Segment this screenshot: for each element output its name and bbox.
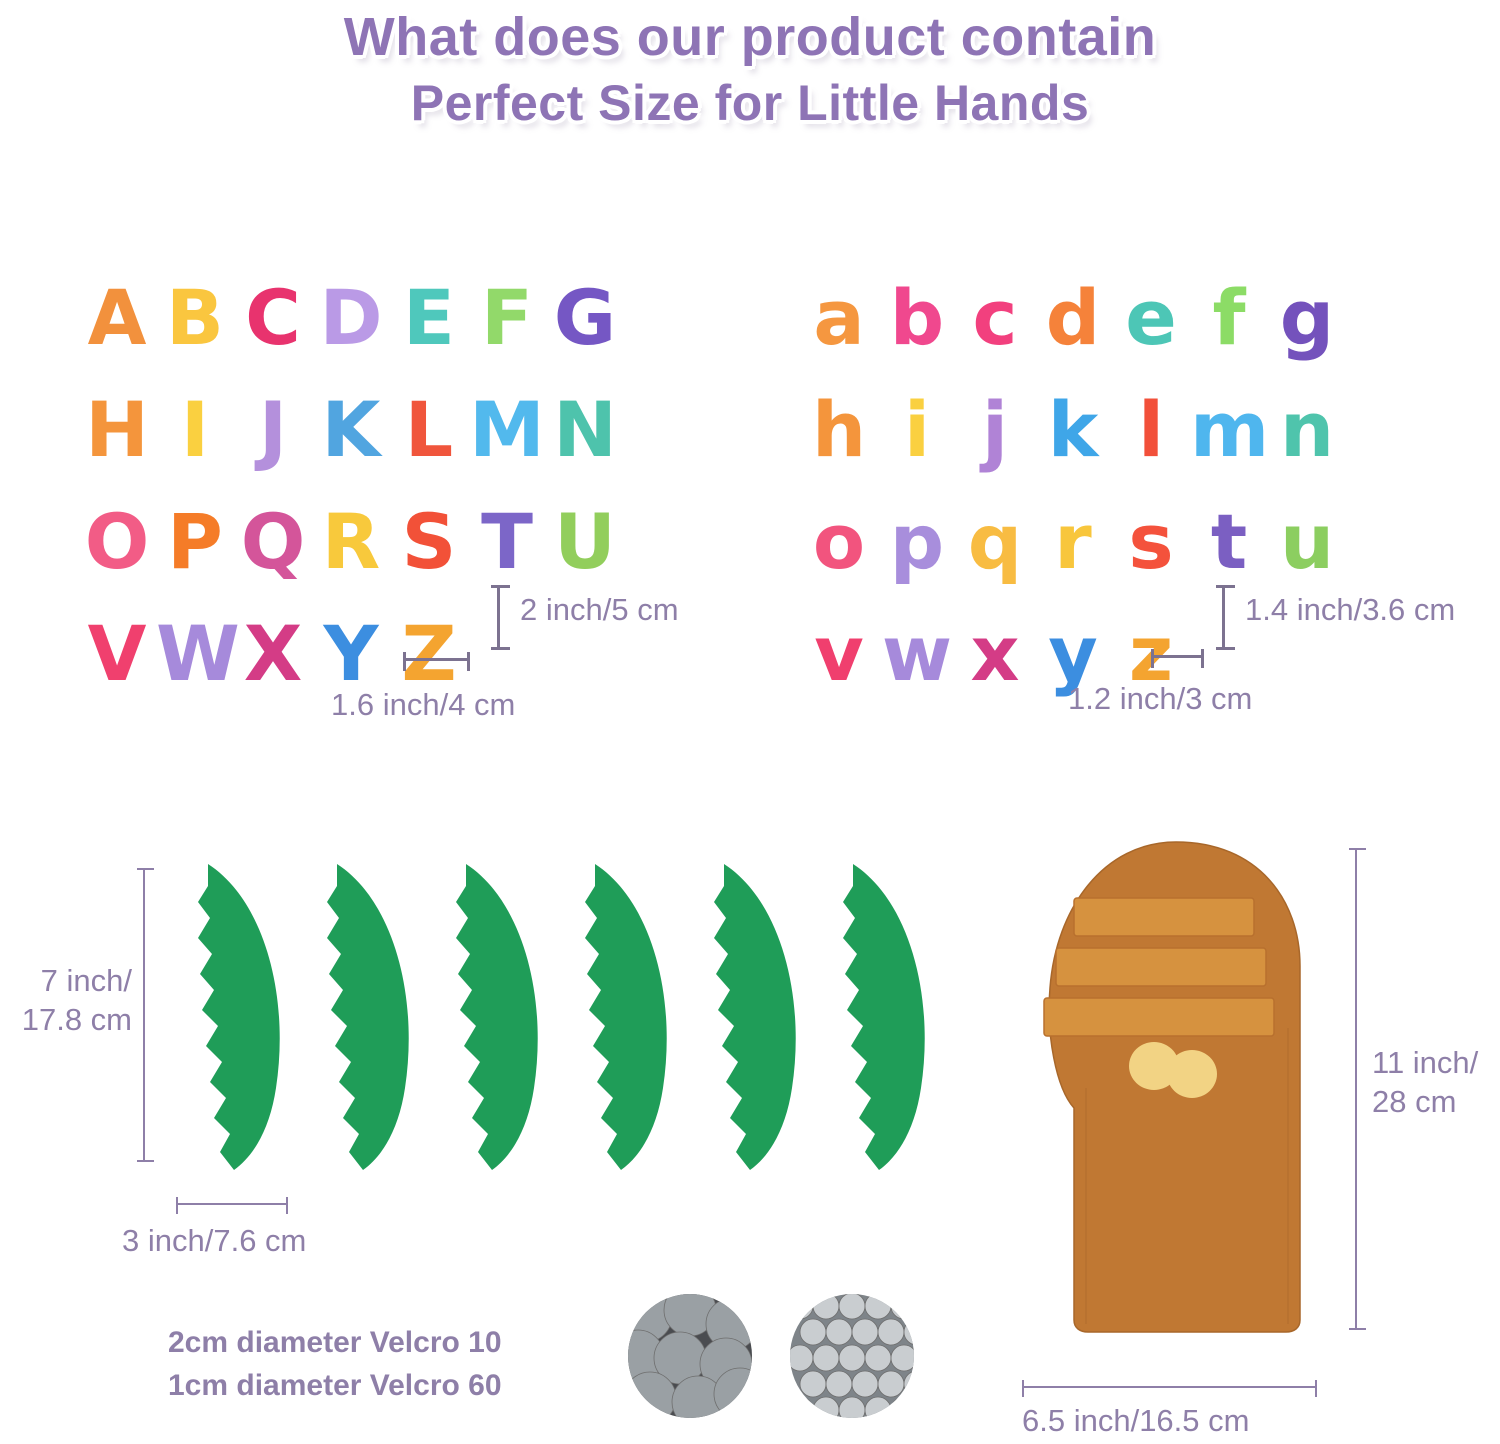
uppercase-width-marker <box>404 658 468 661</box>
velcro-note-line-1: 2cm diameter Velcro 10 <box>168 1322 502 1365</box>
leaf-width-marker <box>176 1203 288 1205</box>
letter-tile-G: G <box>546 280 624 356</box>
letter-tile-k: k <box>1034 392 1112 468</box>
trunk-height-marker <box>1355 848 1357 1330</box>
letter-tile-A: A <box>78 280 156 356</box>
letter-tile-i: i <box>878 392 956 468</box>
letter-tile-L: L <box>390 392 468 468</box>
letter-tile-e: e <box>1112 280 1190 356</box>
letter-tile-l: l <box>1112 392 1190 468</box>
letter-tile-E: E <box>390 280 468 356</box>
letter-tile-V: V <box>78 616 156 692</box>
lowercase-height-label: 1.4 inch/3.6 cm <box>1245 591 1455 630</box>
velcro-loop-side-photo <box>790 1294 914 1418</box>
letter-tile-r: r <box>1034 504 1112 580</box>
letter-tile-R: R <box>312 504 390 580</box>
page-title: What does our product contain Perfect Si… <box>0 6 1500 133</box>
uppercase-height-label: 2 inch/5 cm <box>520 591 679 630</box>
leaf-height-marker <box>143 868 145 1162</box>
letter-tile-C: C <box>234 280 312 356</box>
letter-tile-p: p <box>878 504 956 580</box>
letter-tile-d: d <box>1034 280 1112 356</box>
lowercase-width-label: 1.2 inch/3 cm <box>1068 680 1252 719</box>
letter-tile-B: B <box>156 280 234 356</box>
letter-tile-a: a <box>800 280 878 356</box>
letter-tile-H: H <box>78 392 156 468</box>
letter-tile-F: F <box>468 280 546 356</box>
letter-tile-N: N <box>546 392 624 468</box>
letter-row: OPQRSTU <box>78 468 624 580</box>
letter-tile-J: J <box>234 392 312 468</box>
leaf-shape <box>813 856 941 1176</box>
letter-row: HIJKLMN <box>78 356 624 468</box>
letter-row: hijklmn <box>800 356 1346 468</box>
letter-tile-s: s <box>1112 504 1190 580</box>
trunk-width-marker <box>1022 1386 1317 1388</box>
letter-tile-x: x <box>956 616 1034 692</box>
letter-tile-P: P <box>156 504 234 580</box>
uppercase-height-marker <box>497 586 500 648</box>
lowercase-width-marker <box>1152 655 1202 658</box>
letter-tile-I: I <box>156 392 234 468</box>
trunk-height-label: 11 inch/ 28 cm <box>1372 1044 1478 1122</box>
letter-tile-M: M <box>468 392 546 468</box>
leaf-width-label: 3 inch/7.6 cm <box>122 1222 306 1261</box>
letter-tile-c: c <box>956 280 1034 356</box>
letter-tile-j: j <box>956 392 1034 468</box>
letter-tile-o: o <box>800 504 878 580</box>
leaf-shape <box>555 856 683 1176</box>
letter-tile-K: K <box>312 392 390 468</box>
leaf-shape <box>168 856 296 1176</box>
letter-tile-v: v <box>800 616 878 692</box>
letter-tile-g: g <box>1268 280 1346 356</box>
letter-row: ABCDEFG <box>78 244 624 356</box>
letter-tile-n: n <box>1268 392 1346 468</box>
letter-tile-T: T <box>468 504 546 580</box>
uppercase-width-label: 1.6 inch/4 cm <box>331 686 515 725</box>
leaf-shape <box>684 856 812 1176</box>
letter-tile-u: u <box>1268 504 1346 580</box>
velcro-hook-side-photo <box>628 1294 752 1418</box>
letter-tile-w: w <box>878 616 956 692</box>
velcro-quantity-note: 2cm diameter Velcro 10 1cm diameter Velc… <box>168 1322 502 1407</box>
letter-tile-b: b <box>878 280 956 356</box>
letter-row: opqrstu <box>800 468 1346 580</box>
letter-tile-O: O <box>78 504 156 580</box>
trunk-width-label: 6.5 inch/16.5 cm <box>1022 1402 1249 1441</box>
letter-tile-q: q <box>956 504 1034 580</box>
leaf-shape <box>297 856 425 1176</box>
letter-tile-t: t <box>1190 504 1268 580</box>
letter-tile-h: h <box>800 392 878 468</box>
letter-row: abcdefg <box>800 244 1346 356</box>
product-contents-infographic: What does our product contain Perfect Si… <box>0 0 1500 1444</box>
tree-trunk-pouch <box>1026 838 1326 1338</box>
letter-tile-W: W <box>156 616 234 692</box>
letter-tile-f: f <box>1190 280 1268 356</box>
title-line-1: What does our product contain <box>0 6 1500 70</box>
leaf-height-label: 7 inch/ 17.8 cm <box>6 962 132 1040</box>
letter-tile-Z: Z <box>390 616 468 692</box>
letter-tile-D: D <box>312 280 390 356</box>
letter-tile-X: X <box>234 616 312 692</box>
letter-tile-U: U <box>546 504 624 580</box>
letter-tile-S: S <box>390 504 468 580</box>
letter-tile-Y: Y <box>312 616 390 692</box>
leaf-shape <box>426 856 554 1176</box>
letter-tile-Q: Q <box>234 504 312 580</box>
green-leaves-row <box>168 856 928 1176</box>
lowercase-height-marker <box>1222 586 1225 648</box>
title-line-2: Perfect Size for Little Hands <box>0 74 1500 133</box>
velcro-note-line-2: 1cm diameter Velcro 60 <box>168 1365 502 1408</box>
letter-tile-m: m <box>1190 392 1268 468</box>
